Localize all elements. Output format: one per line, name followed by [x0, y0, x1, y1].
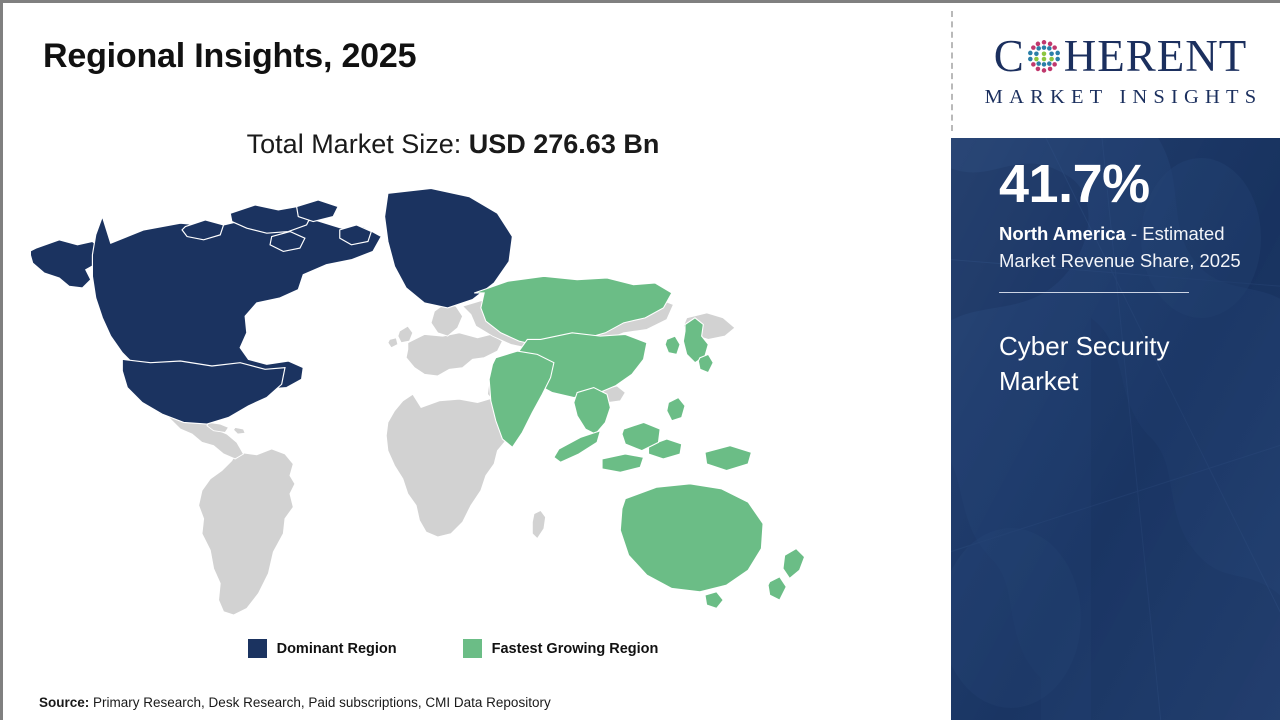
total-market-size: Total Market Size: USD 276.63 Bn: [3, 129, 903, 160]
vertical-dashed-divider: [951, 11, 953, 131]
stat-panel-content: 41.7% North America - Estimated Market R…: [951, 138, 1280, 400]
stat-caption-region: North America: [999, 223, 1126, 244]
logo-word-herent: HERENT: [1064, 34, 1247, 79]
total-market-size-value: USD 276.63 Bn: [469, 129, 660, 159]
left-content-panel: Regional Insights, 2025 Total Market Siz…: [3, 3, 951, 720]
map-legend: Dominant Region Fastest Growing Region: [3, 639, 903, 658]
legend-label-fastest-growing-region: Fastest Growing Region: [492, 641, 659, 657]
logo-wordmark: C: [994, 32, 1248, 80]
source-label: Source:: [39, 695, 89, 710]
stat-divider-rule: [999, 292, 1189, 293]
legend-item-fastest-growing-region: Fastest Growing Region: [463, 639, 659, 658]
total-market-size-label: Total Market Size:: [247, 129, 462, 159]
logo-subtitle: MARKET INSIGHTS: [979, 86, 1263, 109]
legend-item-dominant-region: Dominant Region: [248, 639, 397, 658]
legend-label-dominant-region: Dominant Region: [277, 641, 397, 657]
page-title: Regional Insights, 2025: [43, 37, 416, 76]
stat-panel: 41.7% North America - Estimated Market R…: [951, 138, 1280, 720]
logo-word-c: C: [994, 34, 1025, 79]
stat-caption: North America - Estimated Market Revenue…: [999, 221, 1249, 275]
square-swatch-icon: [248, 639, 267, 658]
square-swatch-icon: [463, 639, 482, 658]
dotted-sphere-icon: [1025, 37, 1063, 75]
stat-percent-value: 41.7%: [999, 156, 1249, 213]
market-name: Cyber Security Market: [999, 329, 1249, 399]
coherent-market-insights-logo: C: [958, 3, 1280, 138]
source-value: Primary Research, Desk Research, Paid su…: [93, 695, 551, 710]
world-map: [31, 185, 861, 625]
source-line: Source: Primary Research, Desk Research,…: [39, 695, 551, 710]
regional-insights-infographic: Regional Insights, 2025 Total Market Siz…: [0, 0, 1280, 720]
